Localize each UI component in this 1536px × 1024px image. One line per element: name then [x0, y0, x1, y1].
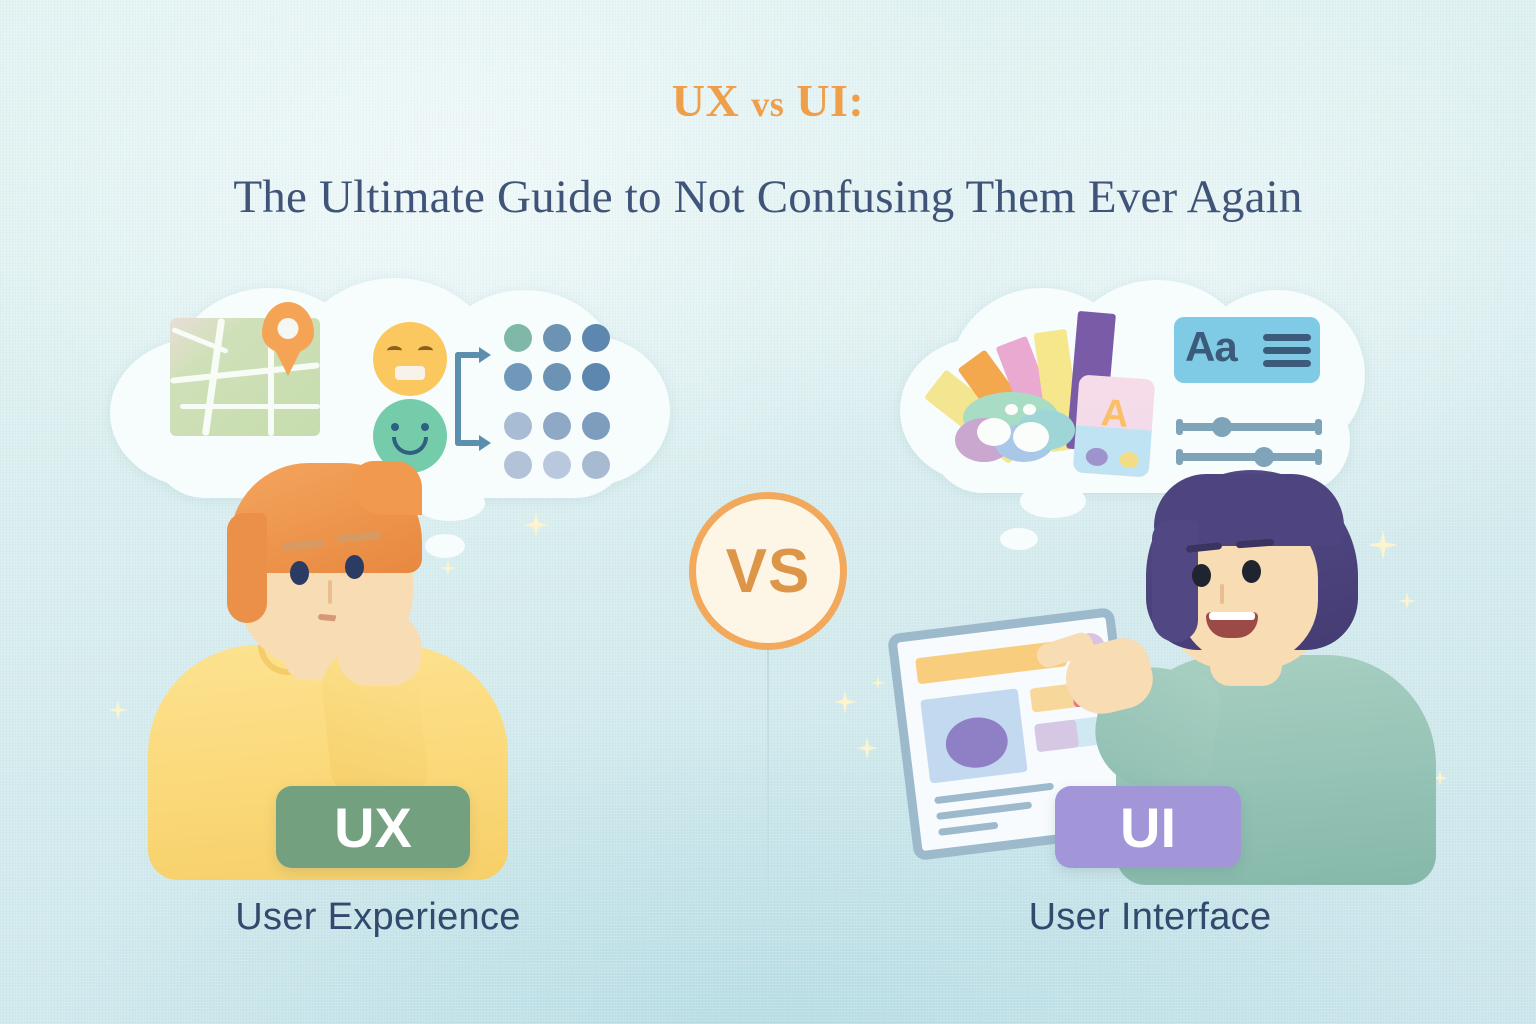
ui-caption: User Interface	[900, 896, 1400, 939]
sparkle-icon	[871, 676, 885, 690]
branching-arrow-icon	[455, 346, 495, 446]
title-text: UX vs UI:	[0, 78, 1536, 124]
thought-puff	[1000, 528, 1038, 550]
dot-grid-top	[504, 324, 610, 391]
title-vs: vs	[751, 84, 784, 124]
typography-card-icon: Aa	[1174, 317, 1320, 383]
sad-face-icon	[373, 322, 447, 396]
ui-badge: UI	[1055, 786, 1241, 868]
infographic-canvas: UX vs UI: The Ultimate Guide to Not Conf…	[0, 0, 1536, 1024]
letter-a-label: A	[1100, 392, 1130, 437]
sparkle-icon	[108, 700, 128, 720]
page-title: UX vs UI:	[0, 78, 1536, 124]
page-subtitle: The Ultimate Guide to Not Confusing Them…	[0, 172, 1536, 224]
title-ux: UX	[672, 75, 739, 126]
center-divider	[767, 620, 769, 920]
typography-label: Aa	[1185, 323, 1237, 371]
ux-caption: User Experience	[118, 896, 638, 939]
ux-badge: UX	[276, 786, 470, 868]
mockup-text-line	[938, 822, 998, 836]
mockup-text-line	[936, 801, 1032, 820]
mockup-text-line	[934, 783, 1054, 805]
vs-badge: VS	[689, 492, 847, 650]
title-ui: UI:	[796, 75, 864, 126]
paint-palette-icon	[955, 392, 1075, 462]
slider-control-top[interactable]	[1178, 423, 1320, 431]
sparkle-icon	[856, 737, 878, 759]
sparkle-icon	[833, 690, 857, 714]
